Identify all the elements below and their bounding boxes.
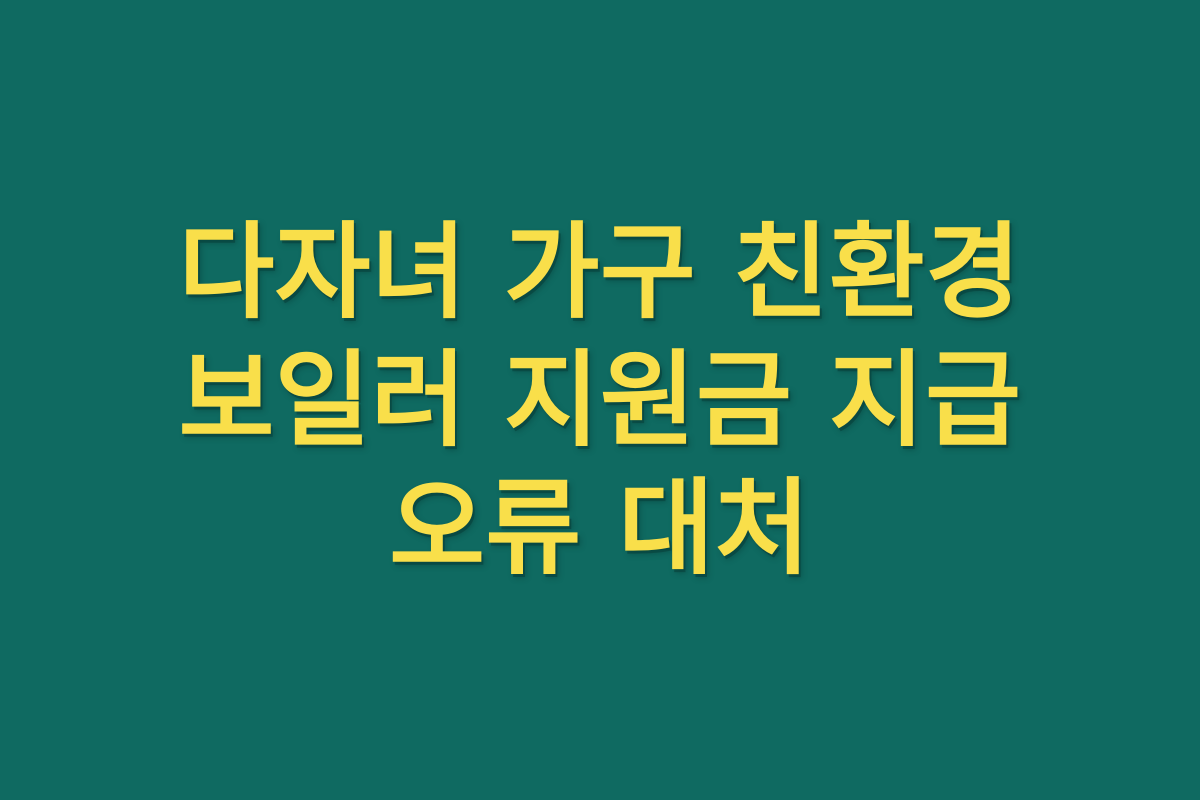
- banner-headline: 다자녀 가구 친환경 보일러 지원금 지급 오류 대처: [85, 208, 1115, 592]
- text-banner: 다자녀 가구 친환경 보일러 지원금 지급 오류 대처: [0, 0, 1200, 800]
